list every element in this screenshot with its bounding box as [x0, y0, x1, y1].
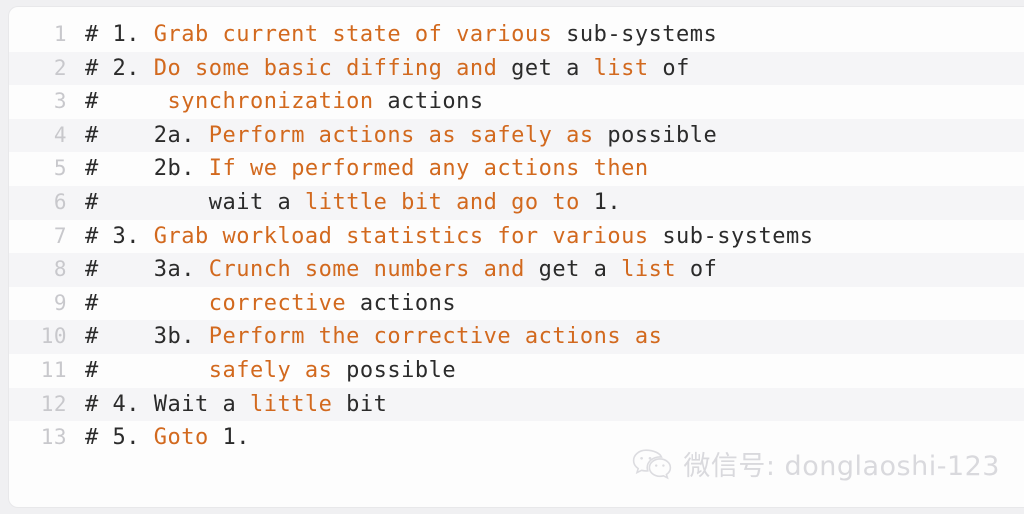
code-line-text: # 5. Goto 1.: [67, 421, 250, 455]
line-number: 5: [9, 152, 67, 186]
code-token-keyword: safely as: [209, 358, 346, 383]
code-line: 1# 1. Grab current state of various sub-…: [9, 18, 1024, 52]
code-token-plain: #: [85, 190, 209, 215]
line-number: 4: [9, 119, 67, 153]
code-line-text: # 3b. Perform the corrective actions as: [67, 320, 662, 354]
code-line-text: # wait a little bit and go to 1.: [67, 186, 621, 220]
code-token-keyword: Crunch some numbers and: [209, 257, 539, 282]
code-token-plain: of: [662, 56, 690, 81]
code-token-keyword: Goto: [154, 425, 223, 450]
code-token-plain: bit: [346, 392, 387, 417]
code-line-text: # corrective actions: [67, 287, 456, 321]
code-token-plain: # 3b.: [85, 324, 209, 349]
code-token-plain: # 2a.: [85, 123, 209, 148]
code-line-text: # synchronization actions: [67, 85, 484, 119]
line-number: 9: [9, 287, 67, 321]
line-number: 10: [9, 320, 67, 354]
code-token-plain: # 2.: [85, 56, 154, 81]
code-token-plain: possible: [346, 358, 456, 383]
code-line: 11# safely as possible: [9, 354, 1024, 388]
code-line-list: 1# 1. Grab current state of various sub-…: [9, 18, 1024, 455]
code-block-card: 1# 1. Grab current state of various sub-…: [8, 6, 1024, 508]
code-token-keyword: list: [621, 257, 690, 282]
code-line: 3# synchronization actions: [9, 85, 1024, 119]
line-number: 12: [9, 388, 67, 422]
code-token-plain: get a: [511, 56, 593, 81]
code-token-keyword: little: [250, 392, 346, 417]
code-token-keyword: little bit and go to: [305, 190, 594, 215]
code-line: 10# 3b. Perform the corrective actions a…: [9, 320, 1024, 354]
code-token-keyword: Do some basic diffing and: [154, 56, 511, 81]
line-number: 13: [9, 421, 67, 455]
code-token-plain: get a: [539, 257, 621, 282]
code-token-plain: sub-systems: [662, 224, 813, 249]
code-line: 9# corrective actions: [9, 287, 1024, 321]
code-token-plain: # 3a.: [85, 257, 209, 282]
code-line-text: # 2a. Perform actions as safely as possi…: [67, 119, 717, 153]
code-line-text: # 3. Grab workload statistics for variou…: [67, 220, 814, 254]
code-line: 5# 2b. If we performed any actions then: [9, 152, 1024, 186]
line-number: 1: [9, 18, 67, 52]
line-number: 11: [9, 354, 67, 388]
code-token-plain: actions: [387, 89, 483, 114]
code-token-keyword: Grab current state of various: [154, 22, 566, 47]
code-line: 7# 3. Grab workload statistics for vario…: [9, 220, 1024, 254]
code-token-plain: # 4. Wait a: [85, 392, 250, 417]
code-line: 12# 4. Wait a little bit: [9, 388, 1024, 422]
code-line-text: # 2b. If we performed any actions then: [67, 152, 649, 186]
code-token-plain: #: [85, 291, 209, 316]
line-number: 7: [9, 220, 67, 254]
code-line-text: # 3a. Crunch some numbers and get a list…: [67, 253, 717, 287]
code-line-text: # 1. Grab current state of various sub-s…: [67, 18, 717, 52]
code-line-text: # 2. Do some basic diffing and get a lis…: [67, 52, 690, 86]
code-token-keyword: Perform the corrective actions as: [209, 324, 663, 349]
code-line-text: # safely as possible: [67, 354, 456, 388]
line-number: 8: [9, 253, 67, 287]
code-token-plain: possible: [607, 123, 717, 148]
code-token-plain: of: [690, 257, 718, 282]
code-token-keyword: corrective: [209, 291, 360, 316]
code-token-plain: a: [264, 190, 305, 215]
code-line: 8# 3a. Crunch some numbers and get a lis…: [9, 253, 1024, 287]
line-number: 2: [9, 52, 67, 86]
code-token-plain: sub-systems: [566, 22, 717, 47]
code-token-plain: # 5.: [85, 425, 154, 450]
code-token-keyword: Grab workload statistics for various: [154, 224, 663, 249]
code-token-plain: 1.: [594, 190, 622, 215]
code-token-keyword: Perform actions as safely as: [209, 123, 608, 148]
code-line: 6# wait a little bit and go to 1.: [9, 186, 1024, 220]
code-token-plain: # 2b.: [85, 156, 209, 181]
code-token-keyword: list: [594, 56, 663, 81]
line-number: 6: [9, 186, 67, 220]
code-line: 2# 2. Do some basic diffing and get a li…: [9, 52, 1024, 86]
line-number: 3: [9, 85, 67, 119]
code-line: 13# 5. Goto 1.: [9, 421, 1024, 455]
code-token-plain: #: [85, 89, 167, 114]
code-token-plain: #: [85, 358, 209, 383]
code-token-plain: actions: [360, 291, 456, 316]
code-token-plain: 1.: [222, 425, 250, 450]
code-token-plain: # 1.: [85, 22, 154, 47]
code-token-plain: wait: [209, 190, 264, 215]
code-token-plain: # 3.: [85, 224, 154, 249]
code-token-keyword: If we performed any actions then: [209, 156, 649, 181]
code-line-text: # 4. Wait a little bit: [67, 388, 387, 422]
code-line: 4# 2a. Perform actions as safely as poss…: [9, 119, 1024, 153]
code-token-keyword: synchronization: [167, 89, 387, 114]
